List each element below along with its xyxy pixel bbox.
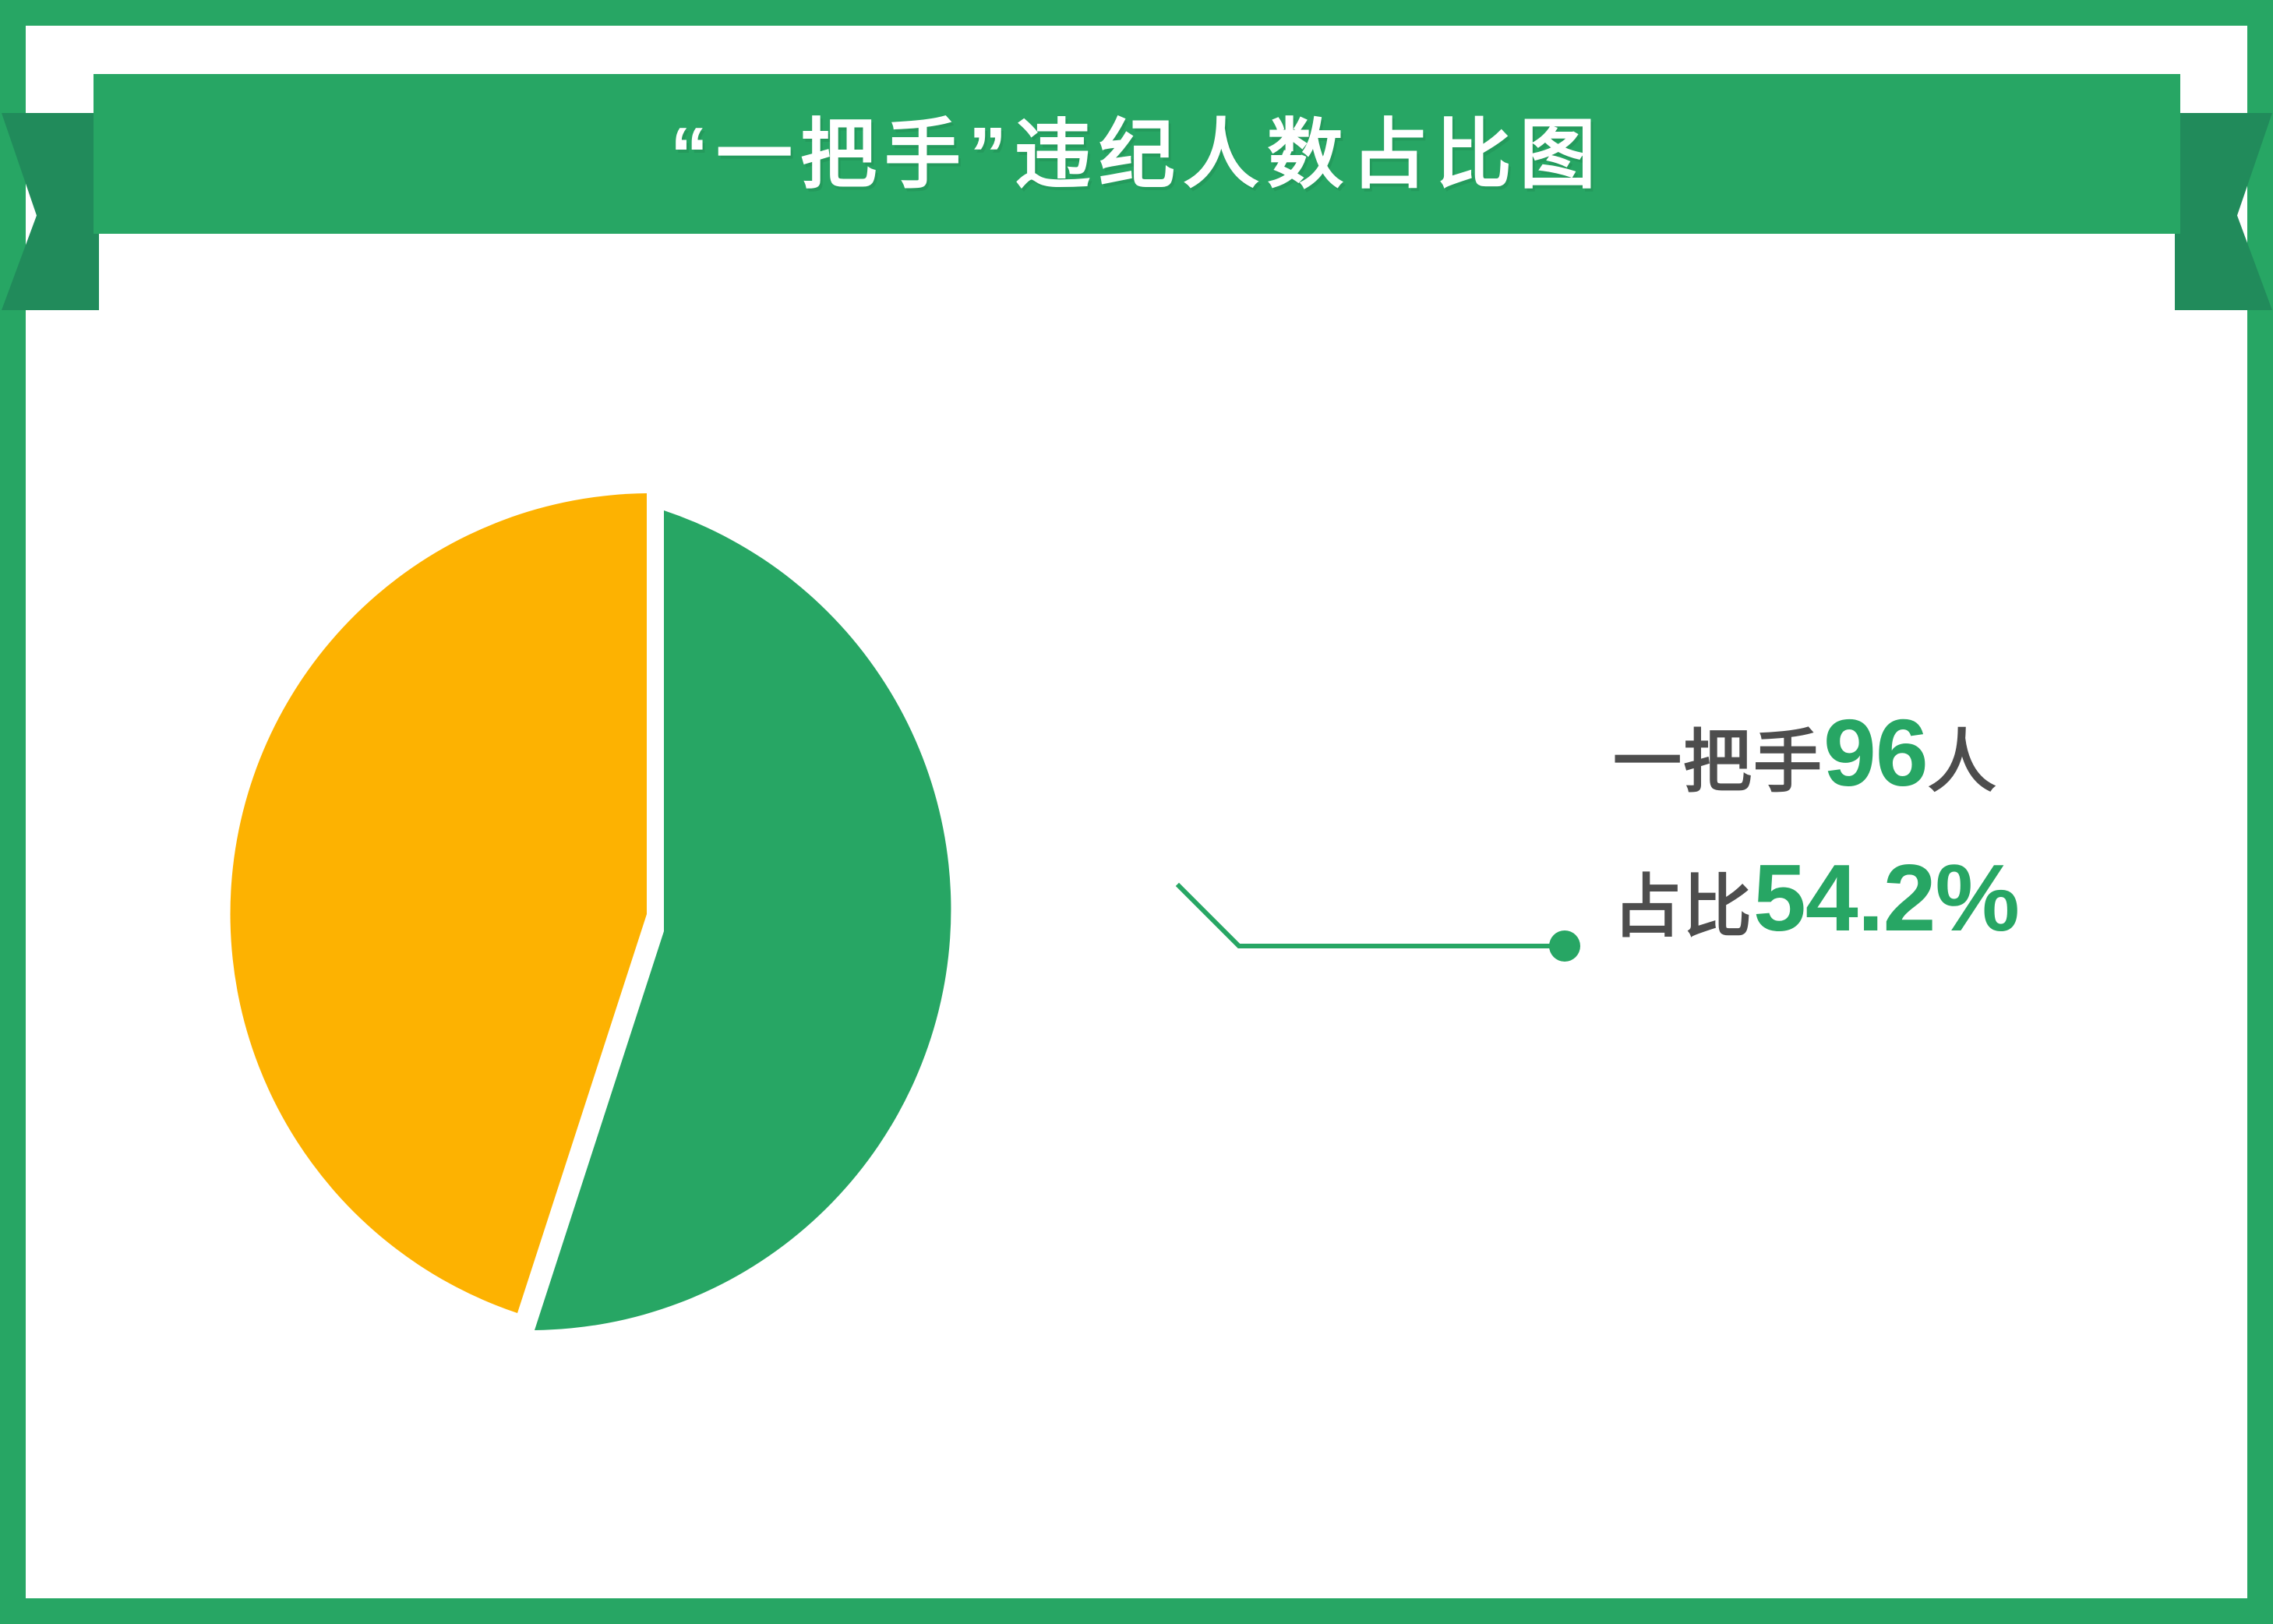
callout-line-percent: 占比54.2%	[1613, 850, 2158, 945]
callout-text: 一把手96人 占比54.2%	[1613, 705, 2158, 945]
title-ribbon: “一把手”违纪人数占比图	[94, 74, 2180, 234]
page-title: “一把手”违纪人数占比图	[670, 116, 1604, 192]
callout-count-unit: 人	[1928, 723, 1996, 800]
callout-percent-label: 占比	[1613, 868, 1753, 945]
callout-line-count: 一把手96人	[1613, 705, 2158, 800]
callout-count-value: 96	[1823, 700, 1928, 806]
pie-chart	[187, 382, 1216, 1465]
callout-percent-value: 54.2%	[1753, 845, 2019, 951]
pie-chart-svg	[187, 382, 1216, 1465]
infographic-page: “一把手”违纪人数占比图 一把手96人 占比54.2%	[0, 0, 2273, 1624]
callout-count-label: 一把手	[1613, 723, 1823, 800]
ribbon-body: “一把手”违纪人数占比图	[94, 74, 2180, 234]
